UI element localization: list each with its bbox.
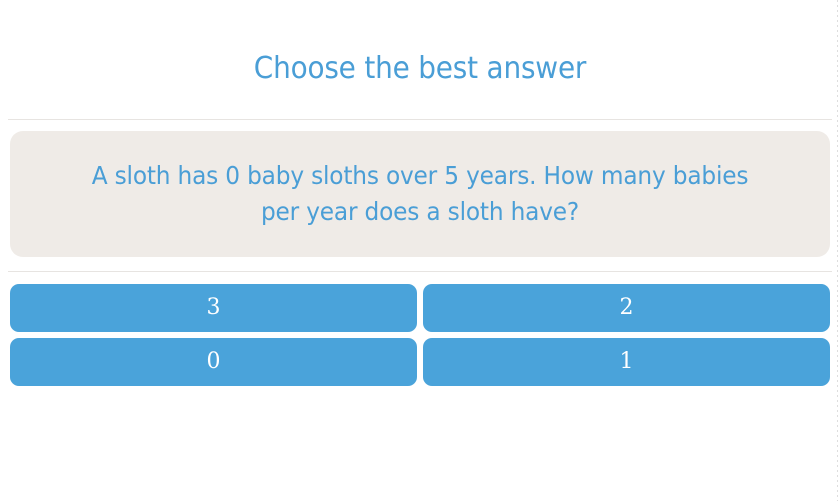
divider-above-question	[8, 119, 832, 120]
question-text: A sloth has 0 baby sloths over 5 years. …	[70, 158, 769, 230]
question-card: A sloth has 0 baby sloths over 5 years. …	[10, 131, 830, 257]
answer-option-1[interactable]: 3	[10, 284, 417, 332]
answer-option-4[interactable]: 1	[423, 338, 830, 386]
divider-below-question	[8, 271, 832, 272]
page-title: Choose the best answer	[29, 0, 810, 88]
answer-options-grid: 3 2 0 1	[10, 284, 830, 386]
quiz-container: Choose the best answer A sloth has 0 bab…	[0, 0, 840, 386]
answer-option-3[interactable]: 0	[10, 338, 417, 386]
answer-option-2[interactable]: 2	[423, 284, 830, 332]
